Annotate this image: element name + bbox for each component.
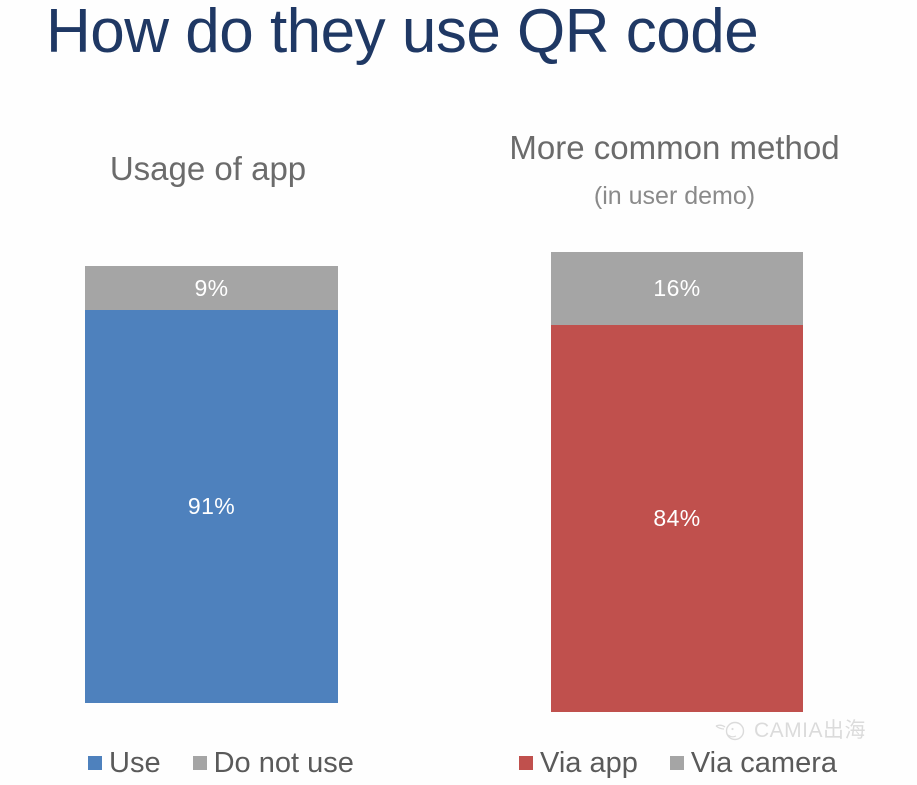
bar-segment-via-app[interactable]: 84% (551, 325, 803, 712)
chart-more-common-method: More common method (in user demo) 16% 84… (440, 0, 917, 785)
legend-swatch-icon-via-app (519, 756, 533, 770)
chart-usage-of-app: Usage of app 9% 91% Use Do not use (0, 0, 440, 785)
legend-item-use[interactable]: Use (88, 748, 161, 778)
bar-segment-via-camera[interactable]: 16% (551, 252, 803, 325)
legend-swatch-icon-do-not-use (193, 756, 207, 770)
bar-segment-use[interactable]: 91% (85, 310, 338, 703)
legend-more-common-method: Via app Via camera (519, 748, 837, 778)
slide-canvas: { "slide": { "title": "How do they use Q… (0, 0, 917, 785)
bar-label-via-app: 84% (653, 507, 700, 530)
legend-label-do-not-use: Do not use (214, 748, 354, 778)
chart-subtitle-more-common-method: (in user demo) (436, 180, 913, 212)
legend-swatch-icon-via-camera (670, 756, 684, 770)
bar-label-via-camera: 16% (653, 277, 700, 300)
bar-label-use: 91% (188, 495, 235, 518)
legend-label-via-app: Via app (540, 748, 638, 778)
legend-usage-of-app: Use Do not use (88, 748, 354, 778)
chart-title-more-common-method: More common method (436, 128, 913, 168)
bar-label-do-not-use: 9% (194, 277, 228, 300)
stacked-bar-usage-of-app: 9% 91% (85, 266, 338, 703)
legend-label-via-camera: Via camera (691, 748, 837, 778)
chart-title-usage-of-app: Usage of app (0, 150, 428, 188)
legend-label-use: Use (109, 748, 161, 778)
legend-item-via-camera[interactable]: Via camera (670, 748, 837, 778)
legend-item-via-app[interactable]: Via app (519, 748, 638, 778)
legend-swatch-icon-use (88, 756, 102, 770)
bar-segment-do-not-use[interactable]: 9% (85, 266, 338, 310)
stacked-bar-more-common-method: 16% 84% (551, 252, 803, 712)
legend-item-do-not-use[interactable]: Do not use (193, 748, 354, 778)
